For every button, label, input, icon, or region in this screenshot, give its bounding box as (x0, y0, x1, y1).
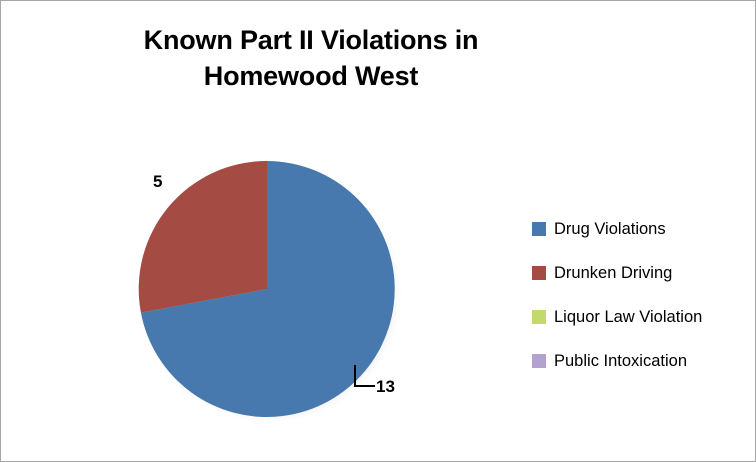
chart-title: Known Part II Violations in Homewood Wes… (31, 23, 591, 94)
legend-item-liquor-law-violation[interactable]: Liquor Law Violation (532, 295, 742, 339)
pie-graphic (119, 139, 419, 449)
legend-item-public-intoxication[interactable]: Public Intoxication (532, 339, 742, 383)
legend-swatch-icon-drug-violations (532, 222, 546, 236)
legend-label-public-intoxication: Public Intoxication (554, 353, 687, 370)
legend-swatch-icon-drunken-driving (532, 266, 546, 280)
legend-label-drunken-driving: Drunken Driving (554, 265, 672, 282)
legend-label-liquor-law-violation: Liquor Law Violation (554, 309, 702, 326)
legend-swatch-icon-liquor-law-violation (532, 310, 546, 324)
plot-area (1, 131, 521, 451)
legend-item-drunken-driving[interactable]: Drunken Driving (532, 251, 742, 295)
data-label-leader-line (353, 365, 375, 389)
data-label-drug-violations: 13 (376, 378, 395, 395)
legend-swatch-icon-public-intoxication (532, 354, 546, 368)
chart-legend: Drug Violations Drunken Driving Liquor L… (532, 207, 742, 383)
legend-label-drug-violations: Drug Violations (554, 221, 666, 238)
legend-item-drug-violations[interactable]: Drug Violations (532, 207, 742, 251)
data-label-drunken-driving: 5 (153, 173, 162, 190)
pie-chart-figure: Known Part II Violations in Homewood Wes… (0, 0, 756, 462)
